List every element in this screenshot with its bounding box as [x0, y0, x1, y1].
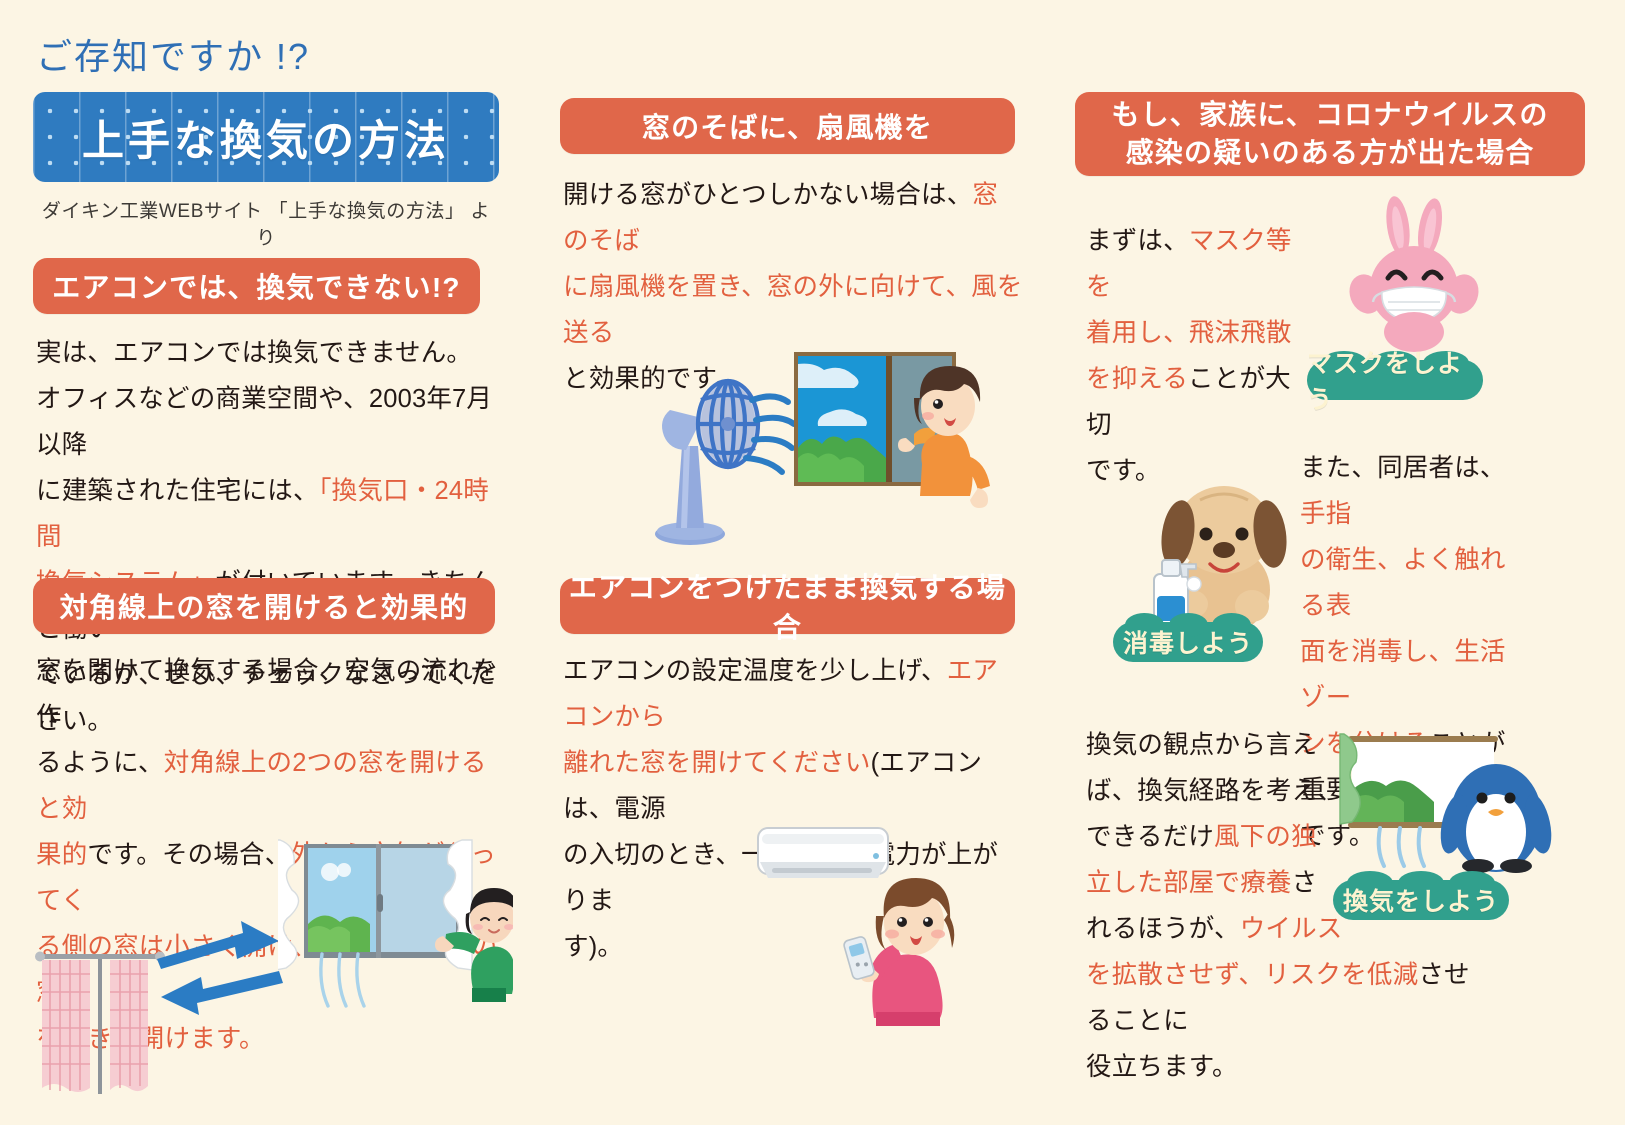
- pill-label: 窓のそばに、扇風機を: [642, 106, 933, 146]
- pink-rabbit-wearing-mask-illustration: [1332, 196, 1502, 356]
- body-text: です。その場合、: [87, 841, 290, 869]
- section-header-ventilate-with-aircon-on: エアコンをつけたまま換気する場合: [560, 578, 1015, 634]
- electric-fan-blowing-out-window-illustration: [648, 338, 1003, 553]
- body-text: に建築された住宅には、: [36, 477, 319, 505]
- badge-label: マスクをしよう: [1307, 344, 1483, 416]
- section-header-aircon-cannot-ventilate: エアコンでは、換気できない!?: [33, 258, 480, 314]
- highlighted-text: 果的: [36, 841, 87, 869]
- section-header-family-infection-suspected: もし、家族に、コロナウイルスの 感染の疑いのある方が出た場合: [1075, 92, 1585, 176]
- source-credit: ダイキン工業WEBサイト 「上手な換気の方法」 より: [33, 196, 499, 250]
- text-line: に建築された住宅には、「換気口・24時間: [36, 468, 506, 560]
- body-text: また、同居者は、: [1300, 454, 1506, 482]
- body-text: できるだけ: [1086, 823, 1214, 851]
- text-line: を抑えることが大切: [1086, 356, 1298, 448]
- text-line: エアコンの設定温度を少し上げ、エアコンから: [563, 648, 1013, 740]
- page-title: 上手な換気の方法: [82, 107, 450, 168]
- highlighted-text: 風下の独: [1214, 823, 1317, 851]
- body-text: オフィスなどの商業空間や、2003年7月以降: [36, 385, 492, 459]
- highlighted-text: を拡散させず、リスクを低減: [1086, 961, 1418, 989]
- badge-label: 換気をしよう: [1343, 882, 1499, 918]
- badge-disinfect: 消毒しよう: [1113, 622, 1263, 662]
- text-line: 役立ちます。: [1086, 1044, 1486, 1090]
- body-text: さ: [1292, 869, 1318, 897]
- dog-with-sanitizer-bottle-illustration: [1132, 448, 1312, 633]
- highlighted-text: の衛生、よく触れる表: [1300, 546, 1506, 620]
- section-header-fan-near-window: 窓のそばに、扇風機を: [560, 98, 1015, 154]
- pink-plaid-curtain-illustration: [30, 940, 170, 1100]
- badge-label: 消毒しよう: [1123, 624, 1253, 660]
- text-line: 開ける窓がひとつしかない場合は、窓のそば: [563, 172, 1023, 264]
- badge-ventilate: 換気をしよう: [1333, 880, 1509, 920]
- infographic-page: ご存知ですか !? 上手な換気の方法 ダイキン工業WEBサイト 「上手な換気の方…: [0, 0, 1625, 1125]
- body-text: 実は、エアコンでは換気できません。: [36, 339, 472, 367]
- pill-label: エアコンをつけたまま換気する場合: [560, 566, 1015, 646]
- body-text: エアコンの設定温度を少し上げ、: [563, 657, 947, 685]
- text-line: 着用し、飛沫飛散: [1086, 310, 1298, 356]
- badge-wear-mask: マスクをしよう: [1307, 360, 1483, 400]
- page-kicker: ご存知ですか !?: [36, 28, 310, 80]
- pill-label-line1: もし、家族に、コロナウイルスの: [1111, 96, 1548, 134]
- pill-label: 対角線上の窓を開けると効果的: [60, 586, 469, 626]
- body-text: す)。: [563, 933, 623, 961]
- text-line: 実は、エアコンでは換気できません。: [36, 330, 506, 376]
- body-text: 開ける窓がひとつしかない場合は、: [563, 181, 972, 209]
- body-text: ば、換気経路を考え、: [1086, 777, 1343, 805]
- title-banner: 上手な換気の方法: [33, 92, 499, 182]
- text-line: また、同居者は、手指: [1300, 445, 1522, 537]
- highlighted-text: 面を消毒し、生活ゾー: [1300, 638, 1506, 712]
- body-text: 換気の観点から言え: [1086, 731, 1317, 759]
- text-line: まずは、マスク等を: [1086, 218, 1298, 310]
- open-window-with-woman-illustration: [278, 838, 513, 1053]
- body-text: れるほうが、: [1086, 915, 1240, 943]
- highlighted-text: を抑える: [1086, 365, 1188, 393]
- body-text: るように、: [36, 749, 164, 777]
- pill-label-line2: 感染の疑いのある方が出た場合: [1126, 134, 1535, 172]
- highlighted-text: に扇風機を置き、窓の外に向けて、風を送る: [563, 273, 1023, 347]
- text-line: の衛生、よく触れる表: [1300, 537, 1522, 629]
- highlighted-text: 離れた窓を開けてください: [563, 749, 871, 777]
- text-line: 窓を開けて換気する場合、空気の流れを作: [36, 648, 506, 740]
- highlighted-text: 立した部屋で療養: [1086, 869, 1292, 897]
- pill-label: エアコンでは、換気できない!?: [52, 266, 460, 306]
- highlighted-text: 着用し、飛沫飛散: [1086, 319, 1292, 347]
- text-line: るように、対角線上の2つの窓を開けると効: [36, 740, 506, 832]
- body-text: 役立ちます。: [1086, 1053, 1238, 1081]
- text-line: を拡散させず、リスクを低減させることに: [1086, 952, 1486, 1044]
- text-line: 面を消毒し、生活ゾー: [1300, 629, 1522, 721]
- section-header-diagonal-windows: 対角線上の窓を開けると効果的: [33, 578, 495, 634]
- text-line: オフィスなどの商業空間や、2003年7月以降: [36, 376, 506, 468]
- body-text: まずは、: [1086, 227, 1189, 255]
- penguin-by-open-window-illustration: [1318, 728, 1568, 888]
- highlighted-text: ウイルス: [1240, 915, 1343, 943]
- two-way-blue-arrows-illustration: [155, 915, 285, 1025]
- body-text: 窓を開けて換気する場合、空気の流れを作: [36, 657, 499, 731]
- air-conditioner-with-girl-remote-illustration: [752, 818, 1002, 1033]
